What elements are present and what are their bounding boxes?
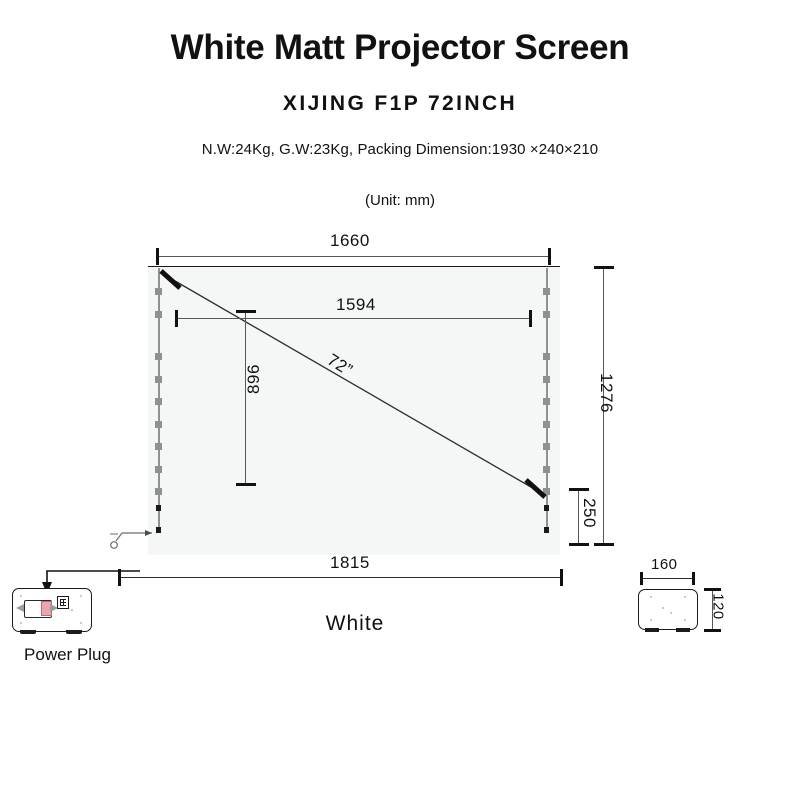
dim-1815-label: 1815 (330, 553, 370, 573)
power-plug-label: Power Plug (0, 645, 135, 665)
dim-160-tick-left (640, 572, 643, 585)
rail-tab-right (543, 466, 550, 473)
dim-1276-label: 1276 (596, 368, 616, 418)
rail-tab-right (543, 376, 550, 383)
rail-tab-left (155, 288, 162, 295)
dim-250-label: 250 (579, 493, 599, 533)
dim-1276-tick-bottom (594, 543, 614, 546)
rail-tab-left (155, 421, 162, 428)
rail-endcap-right (544, 527, 549, 533)
dim-1594-line (176, 318, 530, 319)
dim-120-tick-bottom (704, 629, 721, 632)
socket-wing-left-icon (16, 604, 24, 612)
dim-160-tick-right (692, 572, 695, 585)
power-plug-foot-right (66, 630, 82, 634)
dim-1815-tick-right (560, 569, 563, 586)
rail-tab-right (543, 311, 550, 318)
rail-tab-left (155, 376, 162, 383)
rail-tab-right (543, 421, 550, 428)
rail-tab-left (155, 353, 162, 360)
rail-endcap-left (156, 527, 161, 533)
dim-120-label: 120 (710, 589, 727, 625)
dim-160-label: 160 (651, 556, 678, 573)
dim-1660-tick-right (548, 248, 551, 265)
rail-tab-right (543, 443, 550, 450)
dim-1276-tick-top (594, 266, 614, 269)
power-plug-foot-left (20, 630, 36, 634)
dim-160-line (641, 578, 693, 579)
dim-250-tick-bottom (569, 543, 589, 546)
dim-896-label: 896 (244, 357, 264, 401)
rail-tab-right (543, 353, 550, 360)
rail-tab-left (155, 466, 162, 473)
side-view-body (638, 589, 698, 630)
screen-top-edge (148, 266, 560, 267)
dim-1815-line (119, 577, 562, 578)
rail-tab-left (155, 488, 162, 495)
dim-1815-tick-left (118, 569, 121, 586)
dim-1594-tick-right (529, 310, 532, 327)
dim-1660-label: 1660 (330, 231, 370, 251)
rail-tab-left (155, 443, 162, 450)
side-view-foot-left (645, 628, 659, 632)
dim-250-tick-top (569, 488, 589, 491)
side-view-foot-right (676, 628, 690, 632)
rail-tab-right (543, 398, 550, 405)
rail-endcap-left (156, 505, 161, 511)
dim-1660-tick-left (156, 248, 159, 265)
switch-grid-icon (57, 596, 69, 609)
rail-tab-right (543, 488, 550, 495)
color-caption: White (230, 612, 480, 636)
dim-896-tick-bottom (236, 483, 256, 486)
dim-1660-line (157, 256, 549, 257)
dim-1594-tick-left (175, 310, 178, 327)
technical-drawing: 72” 1660 1594 896 1276 250 1815 White Po… (0, 0, 800, 800)
rail-tab-left (155, 398, 162, 405)
dim-1594-label: 1594 (336, 295, 376, 315)
dim-896-tick-top (236, 310, 256, 313)
rail-tab-right (543, 288, 550, 295)
rail-endcap-right (544, 505, 549, 511)
rail-tab-left (155, 311, 162, 318)
